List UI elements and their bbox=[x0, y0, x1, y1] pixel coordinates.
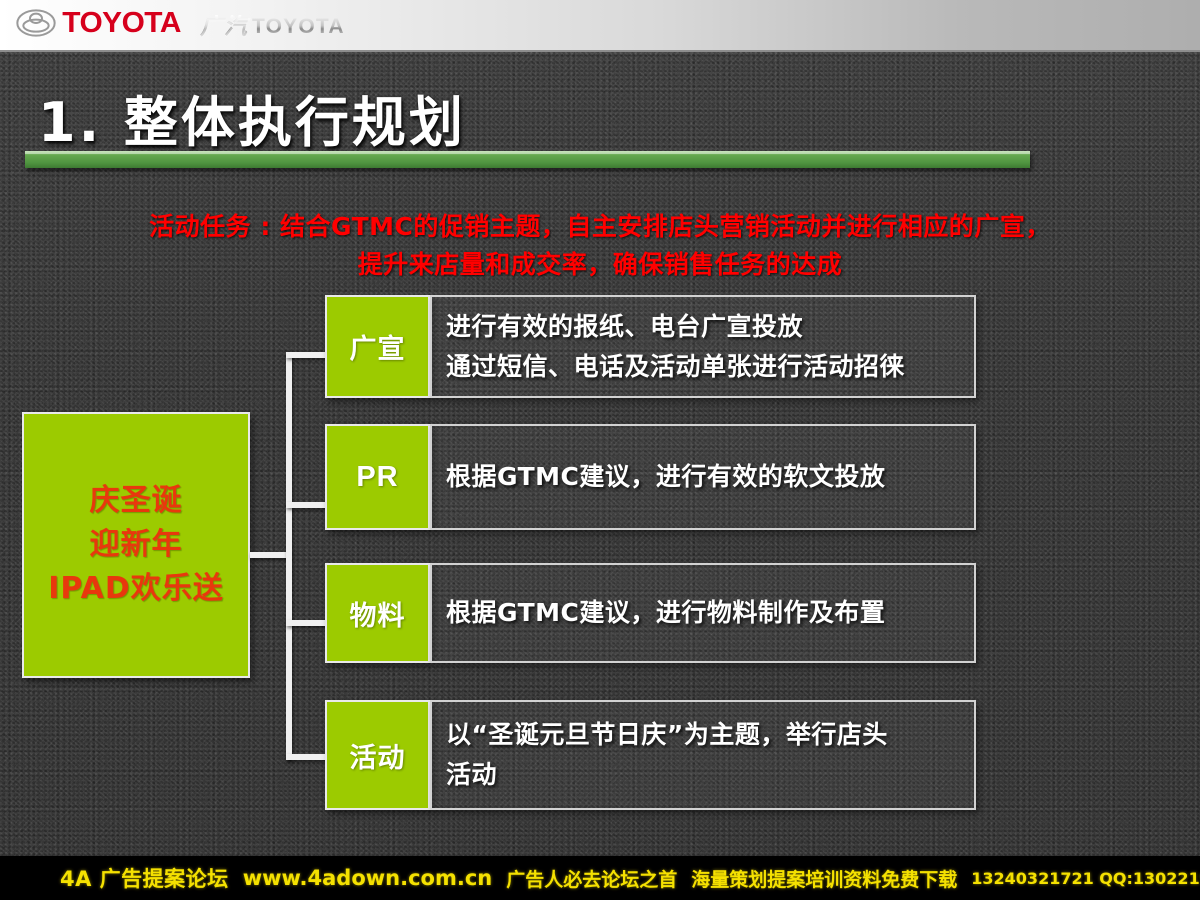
row-text-line: 根据GTMC建议，进行有效的软文投放 bbox=[446, 457, 960, 497]
plan-row: 物料 根据GTMC建议，进行物料制作及布置 bbox=[325, 563, 976, 663]
row-text-line: 进行有效的报纸、电台广宣投放 bbox=[446, 307, 960, 347]
toyota-brand-lockup: TOYOTA bbox=[16, 9, 179, 37]
campaign-root-box: 庆圣诞 迎新年 IPAD欢乐送 bbox=[22, 412, 250, 678]
connector-branch-3 bbox=[286, 620, 330, 626]
root-line-3: IPAD欢乐送 bbox=[48, 567, 224, 611]
row-text-line: 以“圣诞元旦节日庆”为主题，举行店头 bbox=[446, 715, 960, 755]
connector-branch-2 bbox=[286, 502, 330, 508]
row-text-line: 根据GTMC建议，进行物料制作及布置 bbox=[446, 593, 960, 633]
footer-tagline-1: 广告人必去论坛之首 bbox=[506, 865, 677, 892]
footer-tagline-2: 海量策划提案培训资料免费下载 bbox=[691, 865, 957, 892]
gac-chinese-mark: 广汽 bbox=[200, 15, 248, 39]
row-label-pr: PR bbox=[325, 424, 430, 530]
plan-row: PR 根据GTMC建议，进行有效的软文投放 bbox=[325, 424, 976, 530]
row-label-huodong: 活动 bbox=[325, 700, 430, 810]
footer-bar: 4A 广告提案论坛 www.4adown.com.cn 广告人必去论坛之首 海量… bbox=[0, 856, 1200, 900]
connector-branch-1 bbox=[286, 352, 330, 358]
mission-statement: 活动任务 : 结合GTMC的促销主题，自主安排店头营销活动并进行相应的广宣， 提… bbox=[0, 208, 1200, 284]
mission-line-1: 活动任务 : 结合GTMC的促销主题，自主安排店头营销活动并进行相应的广宣， bbox=[18, 208, 1182, 246]
toyota-wordmark: TOYOTA bbox=[62, 9, 181, 37]
row-label-guangxuan: 广宣 bbox=[325, 295, 430, 398]
row-body-huodong: 以“圣诞元旦节日庆”为主题，举行店头 活动 bbox=[430, 700, 976, 810]
connector-trunk bbox=[286, 352, 292, 760]
slide-canvas: TOYOTA 广汽 TOYOTA 1. 整体执行规划 活动任务 : 结合GTMC… bbox=[0, 0, 1200, 900]
footer-url[interactable]: www.4adown.com.cn bbox=[243, 866, 493, 890]
footer-brand: 4A 广告提案论坛 bbox=[60, 863, 229, 893]
connector-branch-4 bbox=[286, 754, 330, 760]
row-text-line: 通过短信、电话及活动单张进行活动招徕 bbox=[446, 347, 960, 387]
connector-root-stub bbox=[250, 552, 290, 558]
slide-header: TOYOTA 广汽 TOYOTA bbox=[0, 0, 1200, 52]
gac-toyota-wordmark: TOYOTA bbox=[252, 15, 345, 39]
row-text-line: 活动 bbox=[446, 755, 960, 795]
root-line-2: 迎新年 bbox=[90, 523, 183, 567]
toyota-logo-icon bbox=[16, 9, 56, 37]
row-label-wuliao: 物料 bbox=[325, 563, 430, 663]
page-title: 1. 整体执行规划 bbox=[38, 78, 466, 157]
mission-line-2: 提升来店量和成交率，确保销售任务的达成 bbox=[18, 246, 1182, 284]
gac-toyota-lockup: 广汽 TOYOTA bbox=[200, 15, 345, 39]
footer-contact: 13240321721 QQ:13022192 bbox=[971, 869, 1200, 888]
plan-row: 活动 以“圣诞元旦节日庆”为主题，举行店头 活动 bbox=[325, 700, 976, 810]
plan-row: 广宣 进行有效的报纸、电台广宣投放 通过短信、电话及活动单张进行活动招徕 bbox=[325, 295, 976, 398]
row-body-pr: 根据GTMC建议，进行有效的软文投放 bbox=[430, 424, 976, 530]
row-body-wuliao: 根据GTMC建议，进行物料制作及布置 bbox=[430, 563, 976, 663]
row-body-guangxuan: 进行有效的报纸、电台广宣投放 通过短信、电话及活动单张进行活动招徕 bbox=[430, 295, 976, 398]
title-underline-bar bbox=[25, 151, 1030, 168]
root-line-1: 庆圣诞 bbox=[90, 479, 183, 523]
